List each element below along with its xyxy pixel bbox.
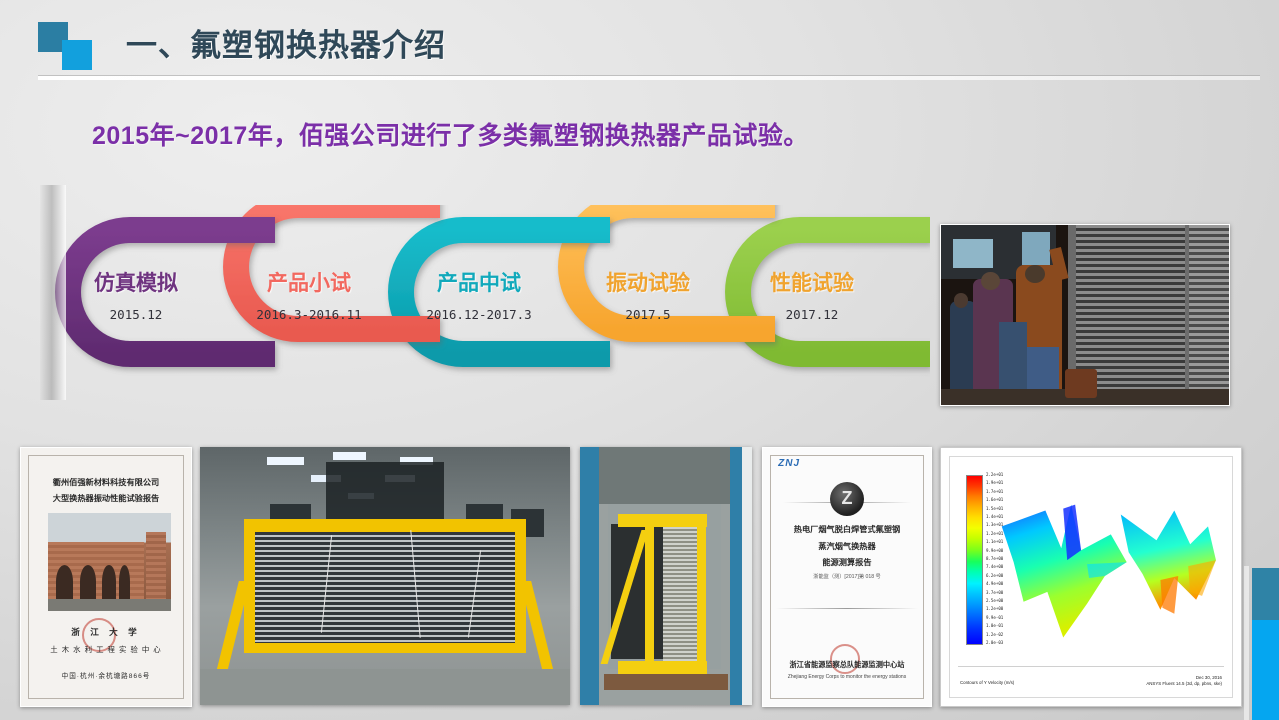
doc-energy-issuer-en: Zhejiang Energy Corps to monitor the ene… <box>783 674 911 680</box>
doc-energy-title-2: 蒸汽烟气换热器 <box>783 540 911 552</box>
doc-energy-title-1: 热电厂烟气脱白焊管式氟塑钢 <box>783 523 911 535</box>
timeline-stage-1-name: 仿真模拟 <box>56 267 216 297</box>
cfd-caption-divider <box>958 666 1224 667</box>
edge-decoration-blue <box>1252 620 1279 720</box>
timeline-ribbon: 仿真模拟 2015.12 产品小试 2016.3-2016.11 产品中试 20… <box>40 205 930 380</box>
doc-vibration-title: 大型换热器振动性能试验报告 <box>41 492 170 504</box>
doc-vibration-center: 土 木 水 利 工 程 实 验 中 心 <box>41 644 170 655</box>
photo-rig-side-content <box>580 447 752 705</box>
doc-vibration-institute: 浙 江 大 学 <box>41 626 170 638</box>
cfd-velocity-plot[interactable]: 2.2e+011.9e+011.7e+011.6e+011.5e+011.4e+… <box>940 447 1242 707</box>
doc-energy-issuer-cn: 浙江省能源监察总队能源监测中心站 <box>783 660 911 670</box>
doc-energy-docno: 浙能监（测）[2017]第 018 号 <box>783 573 911 580</box>
timeline-stage-3[interactable]: 产品中试 2016.12-2017.3 <box>390 267 568 322</box>
doc-energy-cover: ZNJ Z 热电厂烟气脱白焊管式氟塑钢 蒸汽烟气换热器 能源测算报告 浙能监（测… <box>763 448 931 706</box>
photo-rig-front[interactable] <box>200 447 570 705</box>
cfd-caption-title: Contours of Y Velocity (m/s) <box>960 680 1014 685</box>
photo-inspection-content <box>941 225 1229 405</box>
timeline-stage-4-name: 振动试验 <box>568 267 728 297</box>
slide-subtitle: 2015年~2017年，佰强公司进行了多类氟塑钢换热器产品试验。 <box>92 116 809 152</box>
page-title: 一、氟塑钢换热器介绍 <box>126 20 446 65</box>
timeline-stage-5[interactable]: 性能试验 2017.12 <box>732 267 892 322</box>
timeline-stage-4-date: 2017.5 <box>568 307 728 322</box>
doc-vibration-company: 衢州佰强新材料科技有限公司 <box>41 476 170 488</box>
cfd-caption-software: ANSYS Fluent 14.5 (3d, dp, pbns, ske) <box>1146 681 1222 688</box>
doc-energy-logo: ZNJ <box>778 458 800 469</box>
doc-energy-emblem-icon: Z <box>830 482 864 516</box>
timeline-stage-5-name: 性能试验 <box>732 267 892 297</box>
timeline-stage-1-date: 2015.12 <box>56 307 216 322</box>
cfd-caption-date: Dec 30, 2016 <box>1146 675 1222 682</box>
timeline-stage-1[interactable]: 仿真模拟 2015.12 <box>56 267 216 322</box>
header-divider <box>38 76 1260 80</box>
doc-energy-report[interactable]: ZNJ Z 热电厂烟气脱白焊管式氟塑钢 蒸汽烟气换热器 能源测算报告 浙能监（测… <box>762 447 932 707</box>
cfd-plot-canvas: 2.2e+011.9e+011.7e+011.6e+011.5e+011.4e+… <box>949 456 1233 698</box>
photo-rig-side[interactable] <box>580 447 752 705</box>
cfd-contour-graphic <box>950 457 1232 697</box>
doc-vibration-address: 中国·杭州·余杭塘路866号 <box>41 670 170 680</box>
photo-rig-front-content <box>200 447 570 705</box>
doc-energy-title-3: 能源测算报告 <box>783 556 911 568</box>
edge-decoration-teal <box>1252 568 1279 620</box>
timeline-stage-2-date: 2016.3-2016.11 <box>223 307 395 322</box>
cfd-caption-meta: Dec 30, 2016 ANSYS Fluent 14.5 (3d, dp, … <box>1146 675 1222 688</box>
doc-vibration-photo <box>48 513 170 611</box>
timeline-stage-3-name: 产品中试 <box>390 267 568 297</box>
timeline-stage-3-date: 2016.12-2017.3 <box>390 307 568 322</box>
photo-inspection[interactable] <box>940 224 1230 406</box>
header-square-light-icon <box>62 40 92 70</box>
doc-vibration-report[interactable]: 衢州佰强新材料科技有限公司 大型换热器振动性能试验报告 浙 江 大 学 土 木 … <box>20 447 192 707</box>
timeline-stage-5-date: 2017.12 <box>732 307 892 322</box>
slide-canvas: 一、氟塑钢换热器介绍 2015年~2017年，佰强公司进行了多类氟塑钢换热器产品… <box>0 0 1279 720</box>
timeline-stage-2[interactable]: 产品小试 2016.3-2016.11 <box>223 267 395 322</box>
timeline-stage-4[interactable]: 振动试验 2017.5 <box>568 267 728 322</box>
edge-decoration-groove <box>1244 566 1249 720</box>
doc-vibration-cover: 衢州佰强新材料科技有限公司 大型换热器振动性能试验报告 浙 江 大 学 土 木 … <box>21 448 191 706</box>
timeline-stage-2-name: 产品小试 <box>223 267 395 297</box>
